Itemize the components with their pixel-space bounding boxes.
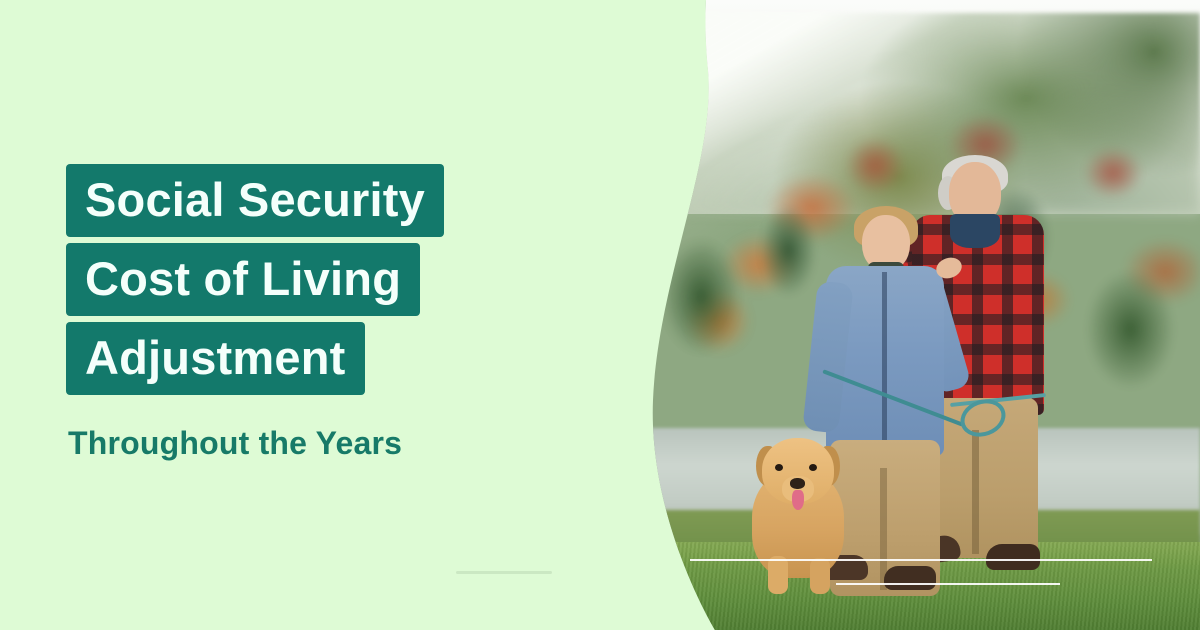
man-pant-seam xyxy=(972,430,979,554)
dog-right-leg xyxy=(810,558,830,594)
accent-rule-photo-bottom xyxy=(836,583,1060,585)
dog-left-eye xyxy=(775,464,783,471)
headline-block: Social Security Cost of Living Adjustmen… xyxy=(66,164,444,395)
dog-nose xyxy=(790,478,805,489)
headline-line-1: Social Security xyxy=(66,164,444,237)
headline-row-2: Cost of Living xyxy=(66,243,444,316)
hero-photo xyxy=(620,0,1200,630)
accent-rule-left xyxy=(456,571,552,574)
dog-tongue xyxy=(792,490,804,510)
dog-left-leg xyxy=(768,556,788,594)
woman-jacket-zipper xyxy=(882,272,887,448)
dog-right-eye xyxy=(809,464,817,471)
subtitle: Throughout the Years xyxy=(68,425,402,462)
hero-photo-panel xyxy=(620,0,1200,630)
headline-line-2: Cost of Living xyxy=(66,243,420,316)
man-right-shoe xyxy=(986,544,1040,570)
headline-row-3: Adjustment xyxy=(66,322,444,395)
woman-right-shoe xyxy=(884,566,936,590)
banner-canvas: Social Security Cost of Living Adjustmen… xyxy=(0,0,1200,630)
headline-row-1: Social Security xyxy=(66,164,444,237)
headline-line-3: Adjustment xyxy=(66,322,365,395)
accent-rule-photo-top xyxy=(690,559,1152,561)
man-collar xyxy=(950,214,1000,248)
